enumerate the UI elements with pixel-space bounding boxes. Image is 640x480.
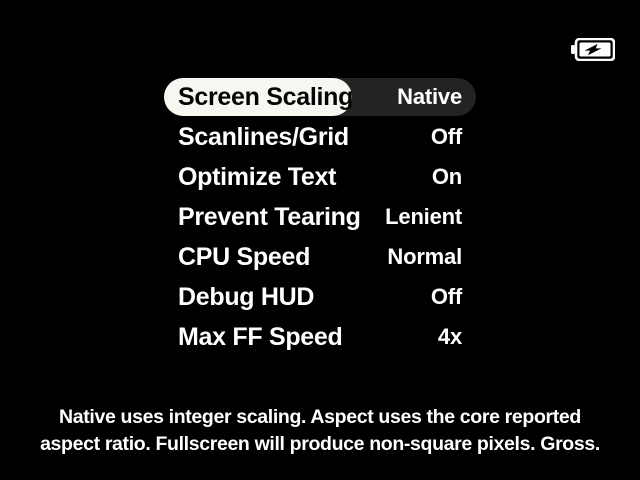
emulator-settings-screen: Screen Scaling Native Scanlines/Grid Off… xyxy=(0,0,640,480)
menu-item-value[interactable]: 4x xyxy=(340,318,462,356)
battery-charging-icon xyxy=(571,38,615,61)
menu-item-value[interactable]: Lenient xyxy=(340,198,462,236)
status-bar xyxy=(0,0,640,72)
menu-item-max-ff-speed[interactable]: Max FF Speed 4x xyxy=(0,318,640,358)
menu-item-debug-hud[interactable]: Debug HUD Off xyxy=(0,278,640,318)
help-line-2: aspect ratio. Fullscreen will produce no… xyxy=(0,431,640,458)
menu-item-cpu-speed[interactable]: CPU Speed Normal xyxy=(0,238,640,278)
menu-item-label: Debug HUD xyxy=(178,278,314,316)
menu-item-value[interactable]: Off xyxy=(340,118,462,156)
help-line-1: Native uses integer scaling. Aspect uses… xyxy=(0,404,640,431)
menu-item-optimize-text[interactable]: Optimize Text On xyxy=(0,158,640,198)
menu-item-screen-scaling[interactable]: Screen Scaling Native xyxy=(0,78,640,118)
menu-item-value[interactable]: On xyxy=(340,158,462,196)
menu-item-label: Scanlines/Grid xyxy=(178,118,349,156)
menu-item-value[interactable]: Native xyxy=(340,78,462,116)
menu-item-label: Prevent Tearing xyxy=(178,198,361,236)
menu-item-label: Optimize Text xyxy=(178,158,336,196)
menu-item-label: CPU Speed xyxy=(178,238,310,276)
settings-menu-list[interactable]: Screen Scaling Native Scanlines/Grid Off… xyxy=(0,78,640,358)
menu-item-prevent-tearing[interactable]: Prevent Tearing Lenient xyxy=(0,198,640,238)
menu-item-value[interactable]: Off xyxy=(340,278,462,316)
menu-item-label: Screen Scaling xyxy=(178,78,353,116)
help-description: Native uses integer scaling. Aspect uses… xyxy=(0,404,640,458)
menu-item-scanlines-grid[interactable]: Scanlines/Grid Off xyxy=(0,118,640,158)
menu-item-value[interactable]: Normal xyxy=(340,238,462,276)
menu-item-label: Max FF Speed xyxy=(178,318,343,356)
